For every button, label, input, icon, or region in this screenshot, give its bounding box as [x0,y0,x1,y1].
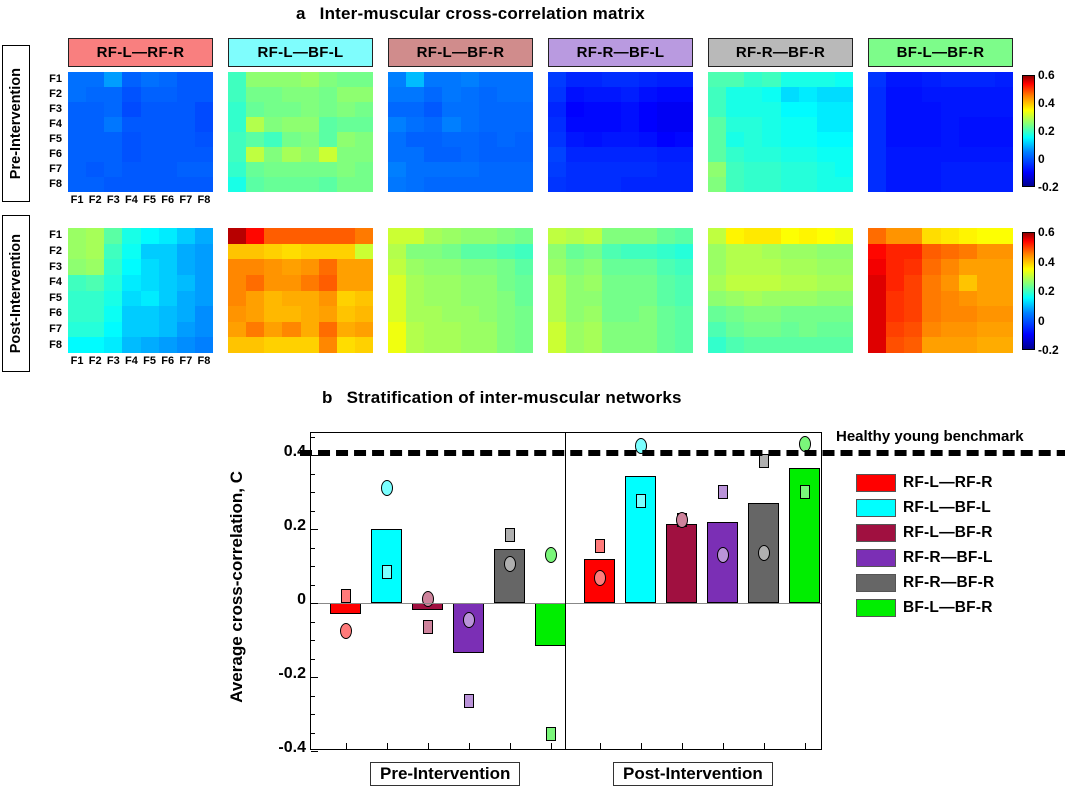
heatmap-cell [515,102,533,117]
heatmap-cell [264,117,282,132]
y-tick-0.2: 0.2 [260,517,306,535]
heatmap-cell [86,244,104,260]
heatmap-cell [141,275,159,291]
heatmap-cell [817,132,835,147]
heatmap-cell [886,259,904,275]
heatmap-cell [548,291,566,307]
heatmap-cell [675,102,693,117]
heatmap-cell [228,275,246,291]
heatmap-cell [442,132,460,147]
heatmap-cell [141,147,159,162]
heatmap-cell [159,322,177,338]
heatmap-cell [995,102,1013,117]
heatmap-cell [566,117,584,132]
x-tick-mark [510,743,511,749]
heatmap-cell [566,102,584,117]
pair-header-label: RF-L—RF-R [97,44,185,61]
heatmap-cell [799,102,817,117]
heatmap-cell [159,117,177,132]
heatmap-cell [726,275,744,291]
heatmap-cell [566,306,584,322]
heatmap-cell [282,147,300,162]
heatmap-cell [868,72,886,87]
heatmap-cell [246,275,264,291]
heatmap-cell [159,72,177,87]
marker-square [464,694,474,708]
heatmap-cell [355,291,373,307]
heatmap-pre-1 [68,72,213,192]
heatmap-cell [264,244,282,260]
heatmap-cell [497,322,515,338]
colorbar-tick-0.2: 0.2 [1038,284,1055,298]
heatmap-cell [941,259,959,275]
heatmap-cell [621,337,639,353]
heatmap-cell [141,306,159,322]
heatmap-cell [886,291,904,307]
heatmap-cell [479,117,497,132]
heatmap-cell [282,291,300,307]
heatmap-cell [744,132,762,147]
heatmap-cell [104,259,122,275]
matrix-row-label-F8: F8 [40,179,62,190]
heatmap-cell [744,259,762,275]
heatmap-cell [726,259,744,275]
heatmap-cell [497,87,515,102]
y-minor-tick-mark [311,640,315,641]
colorbar-tick--0.2: -0.2 [1038,343,1059,357]
heatmap-cell [566,87,584,102]
heatmap-cell [497,102,515,117]
heatmap-cell [264,87,282,102]
heatmap-cell [602,337,620,353]
heatmap-cell [68,102,86,117]
heatmap-cell [657,72,675,87]
heatmap-cell [726,72,744,87]
heatmap-cell [282,162,300,177]
y-minor-tick-mark [311,474,315,475]
legend-item-2[interactable]: RF-L—BF-L [856,495,994,520]
heatmap-cell [122,117,140,132]
marker-square [341,589,351,603]
heatmap-cell [726,102,744,117]
heatmap-cell [799,117,817,132]
heatmap-cell [639,306,657,322]
heatmap-cell [104,102,122,117]
heatmap-cell [657,102,675,117]
heatmap-cell [639,291,657,307]
heatmap-cell [602,228,620,244]
heatmap-cell [566,177,584,192]
pair-header-label: BF-L—BF-R [897,44,985,61]
heatmap-cell [228,87,246,102]
colorbar-tick-0.4: 0.4 [1038,255,1055,269]
heatmap-cell [726,87,744,102]
heatmap-cell [319,228,337,244]
heatmap-cell [337,244,355,260]
heatmap-cell [515,322,533,338]
heatmap-cell [835,228,853,244]
heatmap-cell [941,291,959,307]
x-tick-mark [682,743,683,749]
heatmap-cell [639,132,657,147]
matrix-col-label-F2: F2 [85,356,105,367]
heatmap-cell [442,87,460,102]
heatmap-cell [86,87,104,102]
heatmap-cell [744,87,762,102]
heatmap-cell [799,87,817,102]
heatmap-cell [708,102,726,117]
legend-swatch [856,499,896,517]
heatmap-cell [388,259,406,275]
heatmap-cell [406,244,424,260]
heatmap-cell [68,117,86,132]
legend-item-5[interactable]: RF-R—BF-R [856,570,994,595]
legend-item-6[interactable]: BF-L—BF-R [856,595,994,620]
heatmap-cell [977,72,995,87]
heatmap-cell [86,275,104,291]
x-tick-mark [764,743,765,749]
pair-header-label: RF-L—BF-R [417,44,505,61]
heatmap-cell [104,275,122,291]
heatmap-cell [337,259,355,275]
heatmap-cell [602,322,620,338]
heatmap-cell [835,244,853,260]
heatmap-cell [959,87,977,102]
marker-square [718,485,728,499]
heatmap-cell [708,72,726,87]
heatmap-cell [835,132,853,147]
legend-swatch [856,474,896,492]
heatmap-cell [868,275,886,291]
heatmap-cell [977,102,995,117]
y-axis-label: Average cross-correlation, C [222,422,252,752]
heatmap-cell [159,306,177,322]
heatmap-cell [86,322,104,338]
heatmap-cell [548,87,566,102]
heatmap-post-4 [548,228,693,353]
heatmap-cell [424,259,442,275]
heatmap-cell [246,117,264,132]
heatmap-cell [195,244,213,260]
heatmap-cell [282,117,300,132]
heatmap-cell [86,147,104,162]
heatmap-cell [977,87,995,102]
heatmap-cell [228,132,246,147]
heatmap-cell [708,147,726,162]
heatmap-cell [675,177,693,192]
heatmap-cell [246,87,264,102]
heatmap-cell [817,322,835,338]
heatmap-cell [602,117,620,132]
legend-item-1[interactable]: RF-L—RF-R [856,470,994,495]
heatmap-cell [868,228,886,244]
matrix-col-label-F2: F2 [85,195,105,206]
colorbar-tick-0: 0 [1038,314,1045,328]
matrix-row-label-F8: F8 [40,340,62,351]
heatmap-cell [282,337,300,353]
heatmap-cell [744,291,762,307]
heatmap-cell [177,322,195,338]
heatmap-cell [515,117,533,132]
heatmap-cell [904,132,922,147]
heatmap-cell [584,337,602,353]
heatmap-cell [479,291,497,307]
heatmap-cell [657,162,675,177]
heatmap-cell [319,102,337,117]
heatmap-cell [584,228,602,244]
heatmap-cell [246,132,264,147]
heatmap-cell [141,228,159,244]
heatmap-post-3 [388,228,533,353]
heatmap-cell [195,337,213,353]
heatmap-cell [959,259,977,275]
heatmap-cell [301,337,319,353]
heatmap-cell [868,177,886,192]
heatmap-cell [584,162,602,177]
heatmap-cell [195,102,213,117]
heatmap-cell [922,147,940,162]
heatmap-cell [355,132,373,147]
heatmap-cell [141,259,159,275]
heatmap-cell [904,244,922,260]
heatmap-cell [424,291,442,307]
heatmap-cell [301,177,319,192]
heatmap-cell [461,117,479,132]
matrix-col-label-F4: F4 [121,356,141,367]
heatmap-cell [959,132,977,147]
heatmap-cell [744,117,762,132]
heatmap-cell [159,102,177,117]
heatmap-pre-4 [548,72,693,192]
heatmap-cell [479,162,497,177]
heatmap-cell [959,177,977,192]
heatmap-cell [566,322,584,338]
heatmap-cell [744,102,762,117]
heatmap-cell [461,244,479,260]
heatmap-cell [726,228,744,244]
heatmap-cell [941,102,959,117]
heatmap-cell [835,117,853,132]
heatmap-cell [264,275,282,291]
heatmap-cell [442,291,460,307]
heatmap-cell [835,147,853,162]
heatmap-cell [461,147,479,162]
heatmap-cell [708,275,726,291]
heatmap-cell [817,244,835,260]
heatmap-cell [195,177,213,192]
heatmap-cell [868,322,886,338]
heatmap-cell [337,322,355,338]
heatmap-cell [941,132,959,147]
heatmap-cell [337,337,355,353]
heatmap-cell [195,275,213,291]
heatmap-cell [301,147,319,162]
heatmap-cell [479,177,497,192]
heatmap-cell [159,244,177,260]
heatmap-cell [515,228,533,244]
heatmap-cell [177,147,195,162]
heatmap-cell [122,147,140,162]
heatmap-cell [726,322,744,338]
heatmap-cell [548,177,566,192]
matrix-col-label-F5: F5 [140,195,160,206]
heatmap-cell [977,322,995,338]
heatmap-cell [301,244,319,260]
heatmap-cell [639,72,657,87]
heatmap-cell [708,87,726,102]
colorbar-tick-0.2: 0.2 [1038,124,1055,138]
heatmap-cell [461,337,479,353]
heatmap-cell [319,132,337,147]
heatmap-cell [995,147,1013,162]
heatmap-cell [424,72,442,87]
heatmap-cell [497,147,515,162]
heatmap-cell [461,132,479,147]
heatmap-cell [835,162,853,177]
heatmap-cell [922,87,940,102]
heatmap-cell [584,72,602,87]
pair-header-2: RF-L—BF-L [228,38,373,67]
heatmap-cell [675,337,693,353]
heatmap-cell [657,322,675,338]
heatmap-cell [995,72,1013,87]
heatmap-cell [621,275,639,291]
heatmap-cell [461,228,479,244]
heatmap-cell [86,132,104,147]
heatmap-cell [799,244,817,260]
heatmap-cell [726,291,744,307]
bar-pre-RF-LRF-R [330,603,361,614]
heatmap-cell [602,102,620,117]
heatmap-cell [602,291,620,307]
heatmap-cell [657,275,675,291]
heatmap-cell [122,177,140,192]
heatmap-cell [122,275,140,291]
row-label-pre-intervention: Pre-Intervention [2,45,30,202]
legend-swatch [856,599,896,617]
heatmap-cell [264,228,282,244]
heatmap-cell [799,228,817,244]
heatmap-cell [355,177,373,192]
heatmap-cell [995,337,1013,353]
heatmap-cell [675,72,693,87]
pair-header-1: RF-L—RF-R [68,38,213,67]
y-tick-mark [311,751,318,752]
heatmap-cell [406,228,424,244]
heatmap-cell [675,275,693,291]
row-label-post-text: Post-Intervention [8,234,24,353]
heatmap-cell [584,117,602,132]
heatmap-cell [817,291,835,307]
heatmap-cell [406,337,424,353]
heatmap-cell [301,259,319,275]
heatmap-cell [319,72,337,87]
heatmap-cell [406,306,424,322]
heatmap-cell [922,275,940,291]
matrix-col-label-F7: F7 [176,195,196,206]
heatmap-cell [995,306,1013,322]
heatmap-cell [388,306,406,322]
heatmap-cell [122,291,140,307]
heatmap-cell [442,259,460,275]
heatmap-cell [675,259,693,275]
heatmap-cell [868,117,886,132]
heatmap-cell [904,87,922,102]
heatmap-cell [479,259,497,275]
legend-item-4[interactable]: RF-R—BF-L [856,545,994,570]
heatmap-cell [442,337,460,353]
heatmap-cell [104,228,122,244]
heatmap-cell [941,306,959,322]
heatmap-cell [886,244,904,260]
heatmap-cell [355,244,373,260]
heatmap-cell [762,177,780,192]
heatmap-cell [602,306,620,322]
heatmap-cell [515,177,533,192]
heatmap-cell [68,275,86,291]
heatmap-cell [264,322,282,338]
heatmap-cell [781,132,799,147]
legend-label: RF-L—RF-R [903,474,993,492]
legend-label: RF-R—BF-L [903,549,993,567]
heatmap-cell [548,72,566,87]
heatmap-cell [904,117,922,132]
heatmap-cell [726,132,744,147]
y-minor-tick-mark [311,437,315,438]
x-tick-mark [346,743,347,749]
heatmap-cell [762,244,780,260]
heatmap-cell [282,228,300,244]
heatmap-cell [904,306,922,322]
heatmap-cell [319,259,337,275]
y-minor-tick-mark [311,566,315,567]
heatmap-cell [515,72,533,87]
heatmap-cell [228,291,246,307]
matrix-col-label-F5: F5 [140,356,160,367]
heatmap-cell [122,259,140,275]
heatmap-cell [141,162,159,177]
heatmap-cell [835,306,853,322]
heatmap-cell [104,306,122,322]
heatmap-cell [762,322,780,338]
heatmap-cell [548,337,566,353]
legend-item-3[interactable]: RF-L—BF-R [856,520,994,545]
heatmap-cell [977,244,995,260]
matrix-col-label-F3: F3 [103,356,123,367]
colorbar-tick-0.4: 0.4 [1038,96,1055,110]
y-minor-tick-mark [311,511,315,512]
heatmap-cell [941,337,959,353]
heatmap-cell [922,259,940,275]
heatmap-cell [86,291,104,307]
heatmap-cell [835,72,853,87]
heatmap-cell [621,132,639,147]
colorbar-tick-0.6: 0.6 [1038,225,1055,239]
heatmap-cell [817,177,835,192]
heatmap-cell [337,132,355,147]
heatmap-cell [977,177,995,192]
heatmap-cell [762,87,780,102]
heatmap-cell [319,162,337,177]
colorbar-post [1022,232,1035,350]
heatmap-cell [726,162,744,177]
matrix-row-label-F3: F3 [40,104,62,115]
heatmap-cell [228,117,246,132]
heatmap-cell [959,72,977,87]
heatmap-cell [424,177,442,192]
heatmap-cell [461,177,479,192]
panel-b-bar-section: bStratification of inter-muscular networ… [0,380,1065,812]
